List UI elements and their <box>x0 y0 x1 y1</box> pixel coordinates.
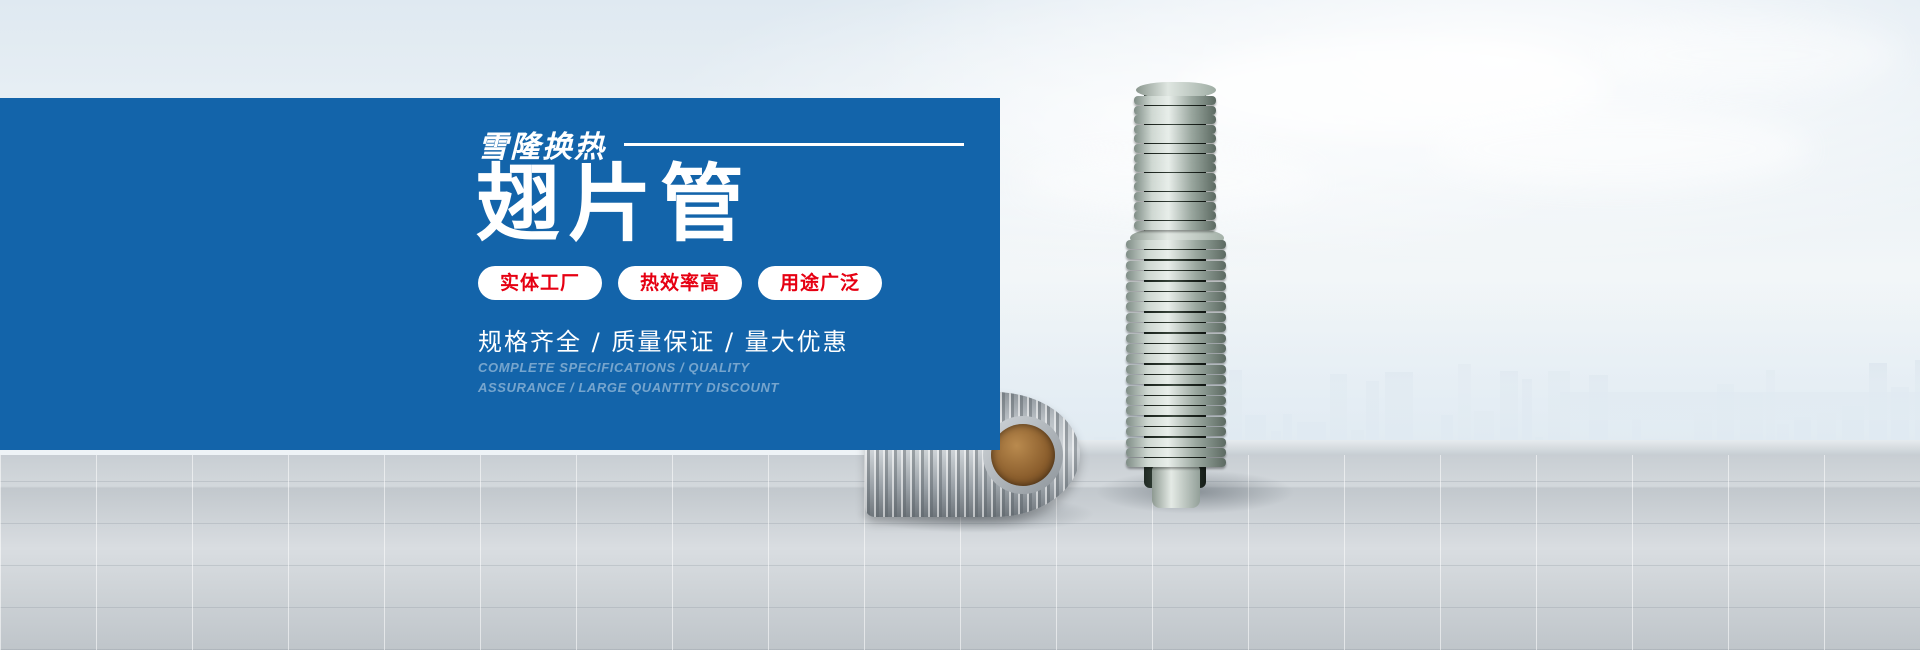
cloud-shape <box>1430 110 1810 188</box>
tube-fin <box>1126 250 1226 259</box>
tube-fin <box>1134 154 1216 163</box>
tube-fin <box>1126 438 1226 447</box>
tube-fin <box>1126 271 1226 280</box>
product-banner: FINNED 雪隆换热 翅片管 实体工厂 热效率高 用途广泛 规格齐全 / 质量… <box>0 0 1920 650</box>
tube-section-bore <box>991 424 1055 486</box>
tube-fin <box>1134 163 1216 172</box>
status-badge: 热效率高 <box>618 266 742 300</box>
tube-fin <box>1126 396 1226 405</box>
tube-fin <box>1126 365 1226 374</box>
tube-fin <box>1126 417 1226 426</box>
tube-fin <box>1134 211 1216 220</box>
tube-fin <box>1126 344 1226 353</box>
tube-fin <box>1126 354 1226 363</box>
page-title: 翅片管 <box>476 162 752 246</box>
tube-fin <box>1134 221 1216 230</box>
finned-tube-vertical-image <box>1100 78 1250 498</box>
tube-fin <box>1126 448 1226 457</box>
tube-fin <box>1134 125 1216 134</box>
tube-fin <box>1134 173 1216 182</box>
cloud-shape <box>1600 20 1900 90</box>
tube-fin <box>1134 182 1216 191</box>
tube-fin <box>1126 292 1226 301</box>
tube-fin <box>1134 192 1216 201</box>
brand-divider-rule <box>624 143 964 146</box>
subtitle-chinese: 规格齐全 / 质量保证 / 量大优惠 <box>478 322 849 357</box>
tube-fin <box>1126 282 1226 291</box>
status-badge: 实体工厂 <box>478 266 602 300</box>
tube-fin <box>1134 115 1216 124</box>
tube-fin <box>1126 458 1226 467</box>
tube-fin <box>1134 106 1216 115</box>
tube-fin <box>1134 202 1216 211</box>
tube-bottom-fitting <box>1152 466 1200 508</box>
feature-badge-list: 实体工厂 热效率高 用途广泛 <box>478 266 882 300</box>
tube-fin <box>1126 313 1226 322</box>
tube-fin <box>1126 427 1226 436</box>
subtitle-english: COMPLETE SPECIFICATIONS / QUALITY ASSURA… <box>478 358 808 398</box>
tube-fin <box>1134 144 1216 153</box>
tube-fin <box>1126 375 1226 384</box>
tube-fin <box>1126 323 1226 332</box>
tube-fin <box>1126 386 1226 395</box>
tube-fin <box>1126 334 1226 343</box>
tube-fin <box>1134 96 1216 105</box>
status-badge: 用途广泛 <box>758 266 882 300</box>
tube-fin <box>1126 261 1226 270</box>
tube-fin <box>1126 240 1226 249</box>
tube-fin <box>1126 302 1226 311</box>
tube-fin <box>1134 134 1216 143</box>
tube-fin <box>1126 406 1226 415</box>
